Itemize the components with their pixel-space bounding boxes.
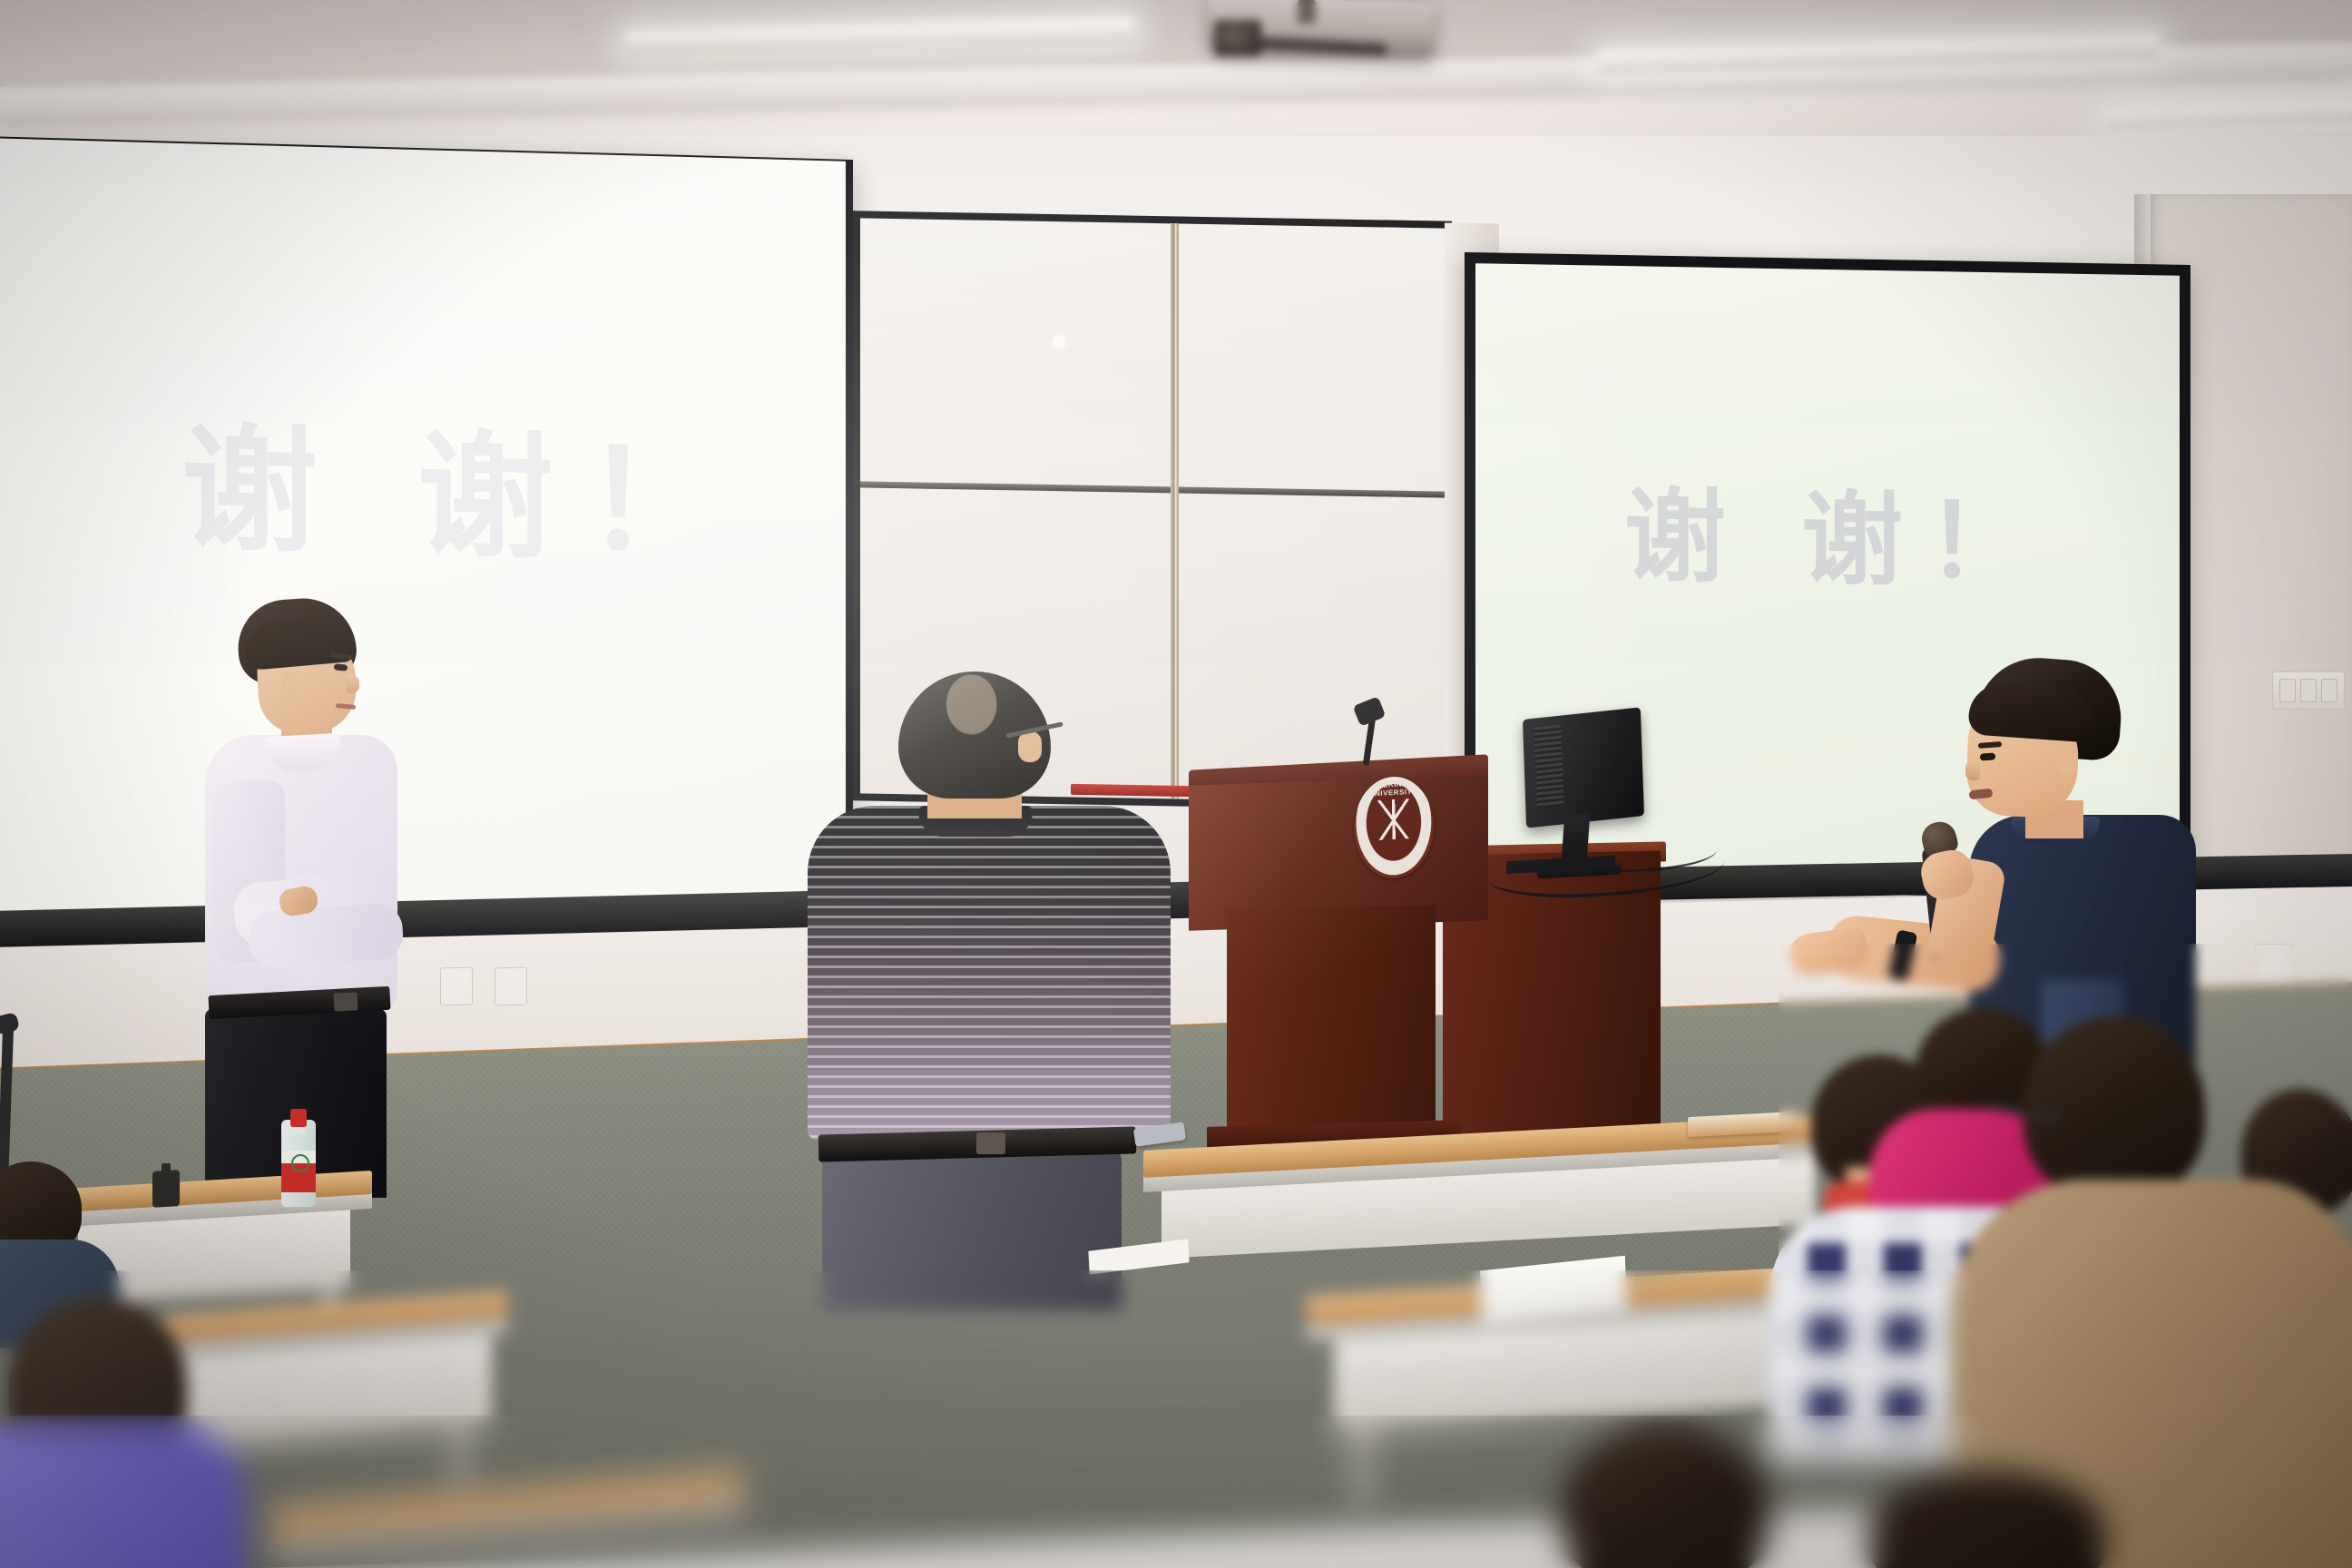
audience-head bbox=[2024, 1016, 2205, 1198]
right-screen-text: 谢 谢！ bbox=[1624, 468, 2005, 611]
left-screen-text: 谢 谢！ bbox=[181, 412, 599, 577]
nose bbox=[1965, 760, 1980, 780]
peking-university-emblem-icon: PEKING UNIVERSITY 1898 bbox=[1353, 775, 1435, 881]
audience-purple-jacket bbox=[0, 1425, 245, 1568]
podium-column bbox=[1227, 905, 1436, 1137]
lecture-hall-photo: 谢 谢！ 谢 谢！ PEKING UNIVERSITY 1898 bbox=[0, 0, 2352, 1568]
monitor-vents bbox=[1534, 725, 1563, 809]
bottle-cap bbox=[290, 1109, 307, 1127]
light-switch-key[interactable] bbox=[2300, 679, 2317, 702]
eye bbox=[334, 663, 348, 671]
crossed-arm-lower bbox=[247, 902, 405, 969]
ear bbox=[281, 671, 298, 695]
projector-mount-arm bbox=[1298, 0, 1316, 24]
ear bbox=[1018, 731, 1042, 762]
person-man-arms-crossed bbox=[198, 599, 470, 1198]
person-man-striped-polo bbox=[799, 671, 1180, 1307]
ear bbox=[2058, 748, 2076, 775]
eye bbox=[1980, 752, 1996, 760]
desk-device-icon[interactable] bbox=[152, 1170, 180, 1208]
light-switch-plate[interactable] bbox=[2272, 671, 2345, 710]
striped-polo-shirt bbox=[808, 806, 1171, 1140]
light-switch-key[interactable] bbox=[2279, 679, 2296, 702]
bottle-label-logo-icon bbox=[291, 1154, 309, 1172]
water-bottle[interactable] bbox=[281, 1098, 316, 1207]
projector-lens-icon bbox=[1214, 20, 1261, 56]
light-switch-key[interactable] bbox=[2321, 679, 2337, 702]
belt-buckle bbox=[976, 1132, 1005, 1154]
belt-buckle bbox=[333, 992, 358, 1011]
wall-outlet[interactable] bbox=[495, 967, 527, 1006]
wall-outlet[interactable] bbox=[2255, 944, 2293, 987]
whiteboard-highlight-spot bbox=[1053, 336, 1065, 348]
trousers bbox=[822, 1151, 1122, 1310]
nose bbox=[347, 675, 359, 693]
